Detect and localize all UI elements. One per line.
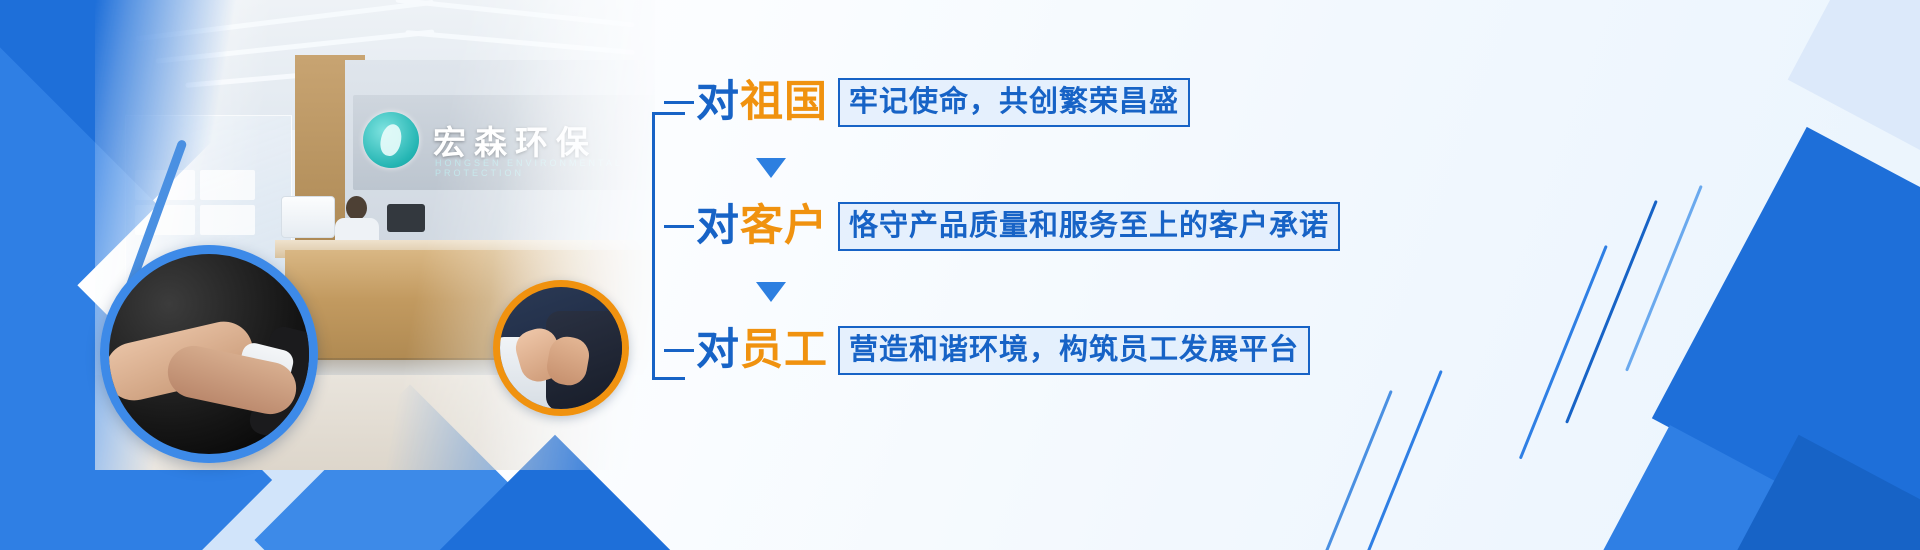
slogan-description-country: 牢记使命，共创繁荣昌盛: [838, 78, 1190, 127]
decor-line: [1343, 370, 1443, 550]
applause-photo: [493, 280, 629, 416]
slogan-description-employee: 营造和谐环境，构筑员工发展平台: [838, 326, 1310, 375]
slogan-keyword-customer: 对客户: [696, 205, 828, 248]
slogan-row-employee: 对员工 营造和谐环境，构筑员工发展平台: [664, 326, 1310, 375]
slogan-row-country: 对祖国 牢记使命，共创繁荣昌盛: [664, 78, 1190, 127]
slogan-keyword-employee: 对员工: [696, 329, 828, 372]
slogan-keyword-country: 对祖国: [696, 81, 828, 124]
bracket-tick-icon: [664, 225, 694, 228]
handshake-photo: [100, 245, 318, 463]
keyword-prefix: 对: [696, 325, 740, 375]
slogan-description-customer: 恪守产品质量和服务至上的客户承诺: [838, 202, 1340, 251]
corporate-banner: 宏森环保 HONGSEN ENVIRONMENTAL PROTECTION: [0, 0, 1920, 550]
bracket-tick-icon: [664, 349, 694, 352]
arrow-down-icon: [756, 158, 786, 178]
bracket-tick-icon: [664, 101, 694, 104]
slogan-row-customer: 对客户 恪守产品质量和服务至上的客户承诺: [664, 202, 1340, 251]
arrow-down-icon: [756, 282, 786, 302]
decor-diagonal-lines: [1330, 0, 1920, 550]
keyword-main: 祖国: [740, 77, 828, 127]
keyword-prefix: 对: [696, 201, 740, 251]
keyword-prefix: 对: [696, 77, 740, 127]
keyword-main: 客户: [740, 201, 828, 251]
keyword-main: 员工: [740, 325, 828, 375]
slogan-list: 对祖国 牢记使命，共创繁荣昌盛 对客户 恪守产品质量和服务至上的客户承诺 对员工…: [652, 78, 1352, 408]
decor-line: [1625, 185, 1703, 372]
